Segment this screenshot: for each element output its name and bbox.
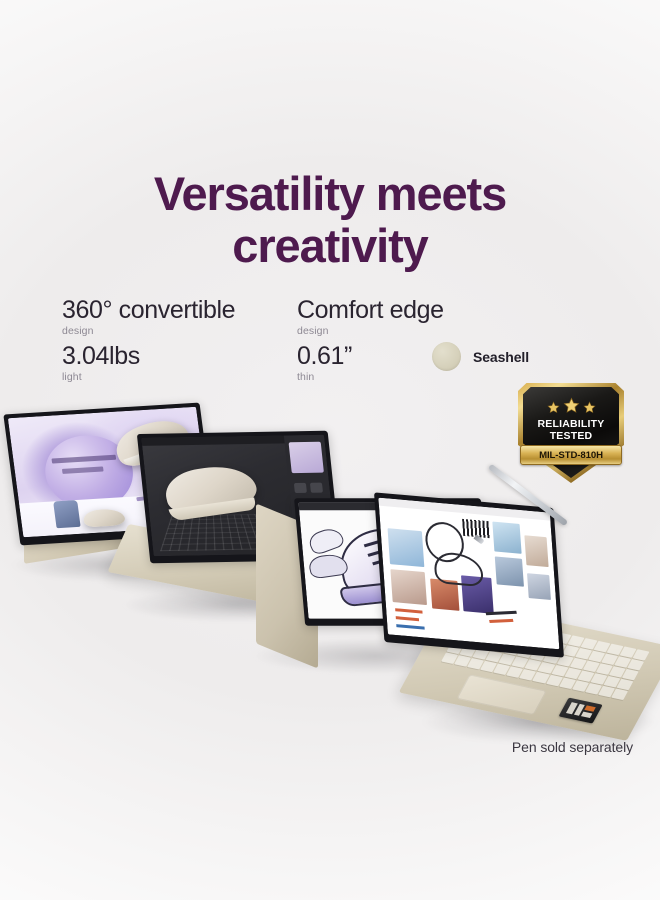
spec-convertible-value: 360° convertible	[62, 296, 235, 324]
color-option-seashell[interactable]: Seashell	[432, 342, 529, 371]
headline-line-2: creativity	[0, 220, 660, 272]
spec-convertible-label: design	[62, 325, 235, 338]
spec-weight-value: 3.04lbs	[62, 342, 140, 370]
star-rating	[518, 397, 624, 419]
page-title: Versatility meets creativity	[0, 168, 660, 272]
spec-list: 360° convertible design 3.04lbs light Co…	[0, 292, 660, 392]
keyboard-key[interactable]	[611, 689, 628, 701]
laptop-4-bezel	[374, 492, 564, 657]
color-swatch-icon	[432, 342, 461, 371]
color-option-label: Seashell	[473, 349, 529, 365]
badge-standard-text: MIL-STD-810H	[539, 450, 603, 461]
moodboard-tile	[387, 528, 424, 567]
laptop-4-clamshell-with-pen	[372, 500, 652, 740]
reliability-tested-badge: RELIABILITY TESTED MIL-STD-810H	[518, 383, 624, 483]
spec-comfort-edge-label: design	[297, 325, 444, 338]
product-marketing-image: Versatility meets creativity 360° conver…	[0, 0, 660, 900]
processor-sticker-icon	[559, 697, 603, 723]
moodboard-tile	[495, 557, 524, 587]
spec-comfort-edge: Comfort edge design	[297, 296, 444, 338]
moodboard-tile	[527, 573, 551, 600]
spec-thickness: 0.61” thin	[297, 342, 352, 384]
badge-line-2: TESTED	[518, 430, 624, 442]
star-icon	[547, 401, 560, 419]
laptop-4-screen	[378, 498, 559, 650]
spec-convertible: 360° convertible design	[62, 296, 235, 338]
screen-art-thumbnail	[289, 442, 324, 473]
spec-weight: 3.04lbs light	[62, 342, 140, 384]
headline-line-1: Versatility meets	[0, 168, 660, 220]
star-icon	[583, 401, 596, 419]
spec-weight-label: light	[62, 371, 140, 384]
screen-art-figure	[53, 500, 81, 528]
star-icon	[563, 397, 580, 419]
spec-thickness-label: thin	[297, 371, 352, 384]
spec-comfort-edge-value: Comfort edge	[297, 296, 444, 324]
moodboard-tile	[524, 535, 548, 567]
spec-thickness-value: 0.61”	[297, 342, 352, 370]
badge-standard-banner: MIL-STD-810H	[520, 445, 622, 465]
badge-line-1: RELIABILITY	[518, 418, 624, 430]
moodboard-tile	[492, 521, 522, 553]
footnote-pen-disclaimer: Pen sold separately	[512, 739, 633, 755]
moodboard-tile	[390, 569, 427, 605]
